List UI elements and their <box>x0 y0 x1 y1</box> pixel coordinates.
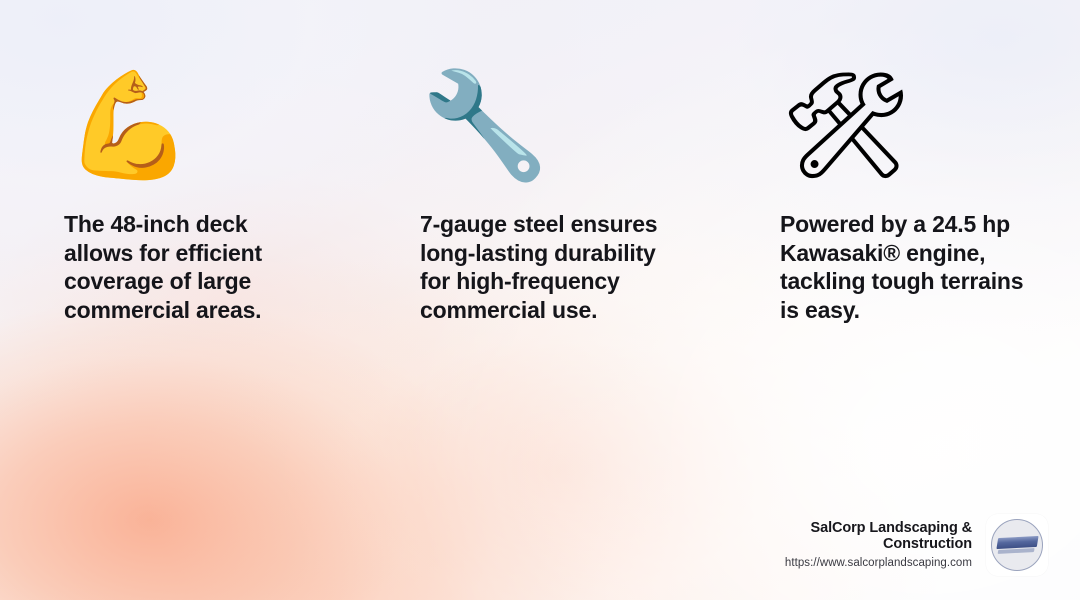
hammer-and-wrench-glyph: 🛠 <box>780 74 912 178</box>
feature-column-3: 🛠 Powered by a 24.5 hp Kawasaki® engine,… <box>780 60 1030 324</box>
feature-column-2: 🔧 7-gauge steel ensures long-lasting dur… <box>420 60 670 324</box>
flexed-biceps-icon: 💪 <box>64 60 314 192</box>
brand-footer: SalCorp Landscaping & Construction https… <box>700 505 1048 585</box>
wrench-glyph: 🔧 <box>420 74 550 178</box>
hammer-and-wrench-icon: 🛠 <box>780 60 1030 192</box>
brand-name: SalCorp Landscaping & Construction <box>772 520 972 552</box>
brand-url[interactable]: https://www.salcorplandscaping.com <box>772 556 972 570</box>
salcorp-logo <box>986 514 1048 576</box>
salcorp-logo-wordmark <box>995 535 1038 554</box>
feature-text-1: The 48-inch deck allows for efficient co… <box>64 210 314 324</box>
salcorp-logo-wordmark-top <box>996 535 1038 548</box>
feature-text-3: Powered by a 24.5 hp Kawasaki® engine, t… <box>780 210 1030 324</box>
slide-canvas: 💪 The 48-inch deck allows for efficient … <box>0 0 1080 600</box>
brand-text-block: SalCorp Landscaping & Construction https… <box>772 520 972 570</box>
flexed-biceps-glyph: 💪 <box>64 74 194 178</box>
salcorp-logo-circle <box>991 519 1043 571</box>
wrench-icon: 🔧 <box>420 60 670 192</box>
feature-column-1: 💪 The 48-inch deck allows for efficient … <box>64 60 314 324</box>
feature-text-2: 7-gauge steel ensures long-lasting durab… <box>420 210 670 324</box>
